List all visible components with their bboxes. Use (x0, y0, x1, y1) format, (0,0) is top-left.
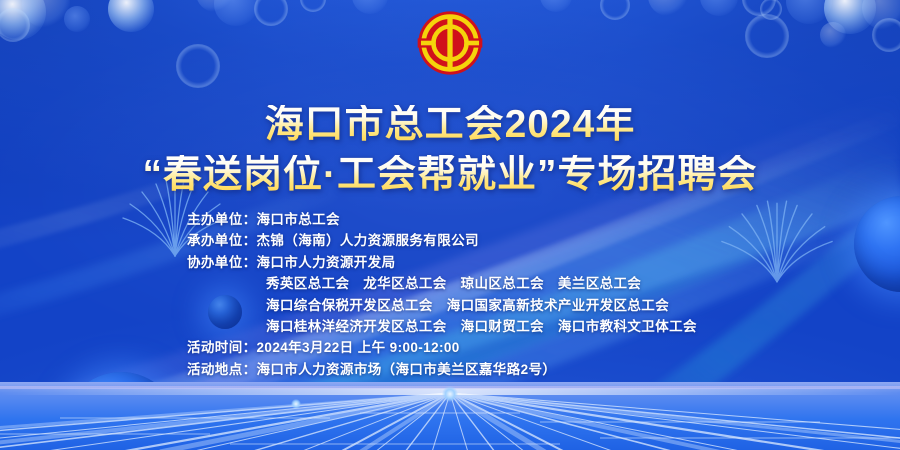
event-details: 主办单位：海口市总工会 承办单位：杰锦（海南）人力资源服务有限公司 协办单位：海… (187, 209, 697, 380)
detail-event-time: 活动时间：2024年3月22日 上午 9:00-12:00 (187, 337, 697, 358)
detail-undertaker: 承办单位：杰锦（海南）人力资源服务有限公司 (187, 230, 697, 251)
poster-title: 海口市总工会2024年 “春送岗位·工会帮就业”专场招聘会 (0, 105, 900, 194)
title-line-2: “春送岗位·工会帮就业”专场招聘会 (0, 155, 900, 194)
recruitment-poster: 海口市总工会2024年 “春送岗位·工会帮就业”专场招聘会 主办单位：海口市总工… (0, 0, 900, 450)
detail-co-organizer-list-3: 海口桂林洋经济开发区总工会 海口财贸工会 海口市教科文卫体工会 (187, 316, 697, 337)
detail-co-organizer-list-1: 秀英区总工会 龙华区总工会 琼山区总工会 美兰区总工会 (187, 273, 697, 294)
detail-co-organizer: 协办单位：海口市人力资源开发局 (187, 252, 697, 273)
perspective-floor (0, 382, 900, 450)
vanishing-point-glow (442, 386, 458, 402)
detail-event-location: 活动地点：海口市人力资源市场（海口市美兰区嘉华路2号） (187, 359, 697, 380)
all-china-federation-of-trade-unions-emblem (417, 10, 483, 76)
floor-spark (291, 399, 301, 409)
detail-organizer: 主办单位：海口市总工会 (187, 209, 697, 230)
detail-co-organizer-list-2: 海口综合保税开发区总工会 海口国家高新技术产业开发区总工会 (187, 295, 697, 316)
title-line-1: 海口市总工会2024年 (0, 105, 900, 144)
